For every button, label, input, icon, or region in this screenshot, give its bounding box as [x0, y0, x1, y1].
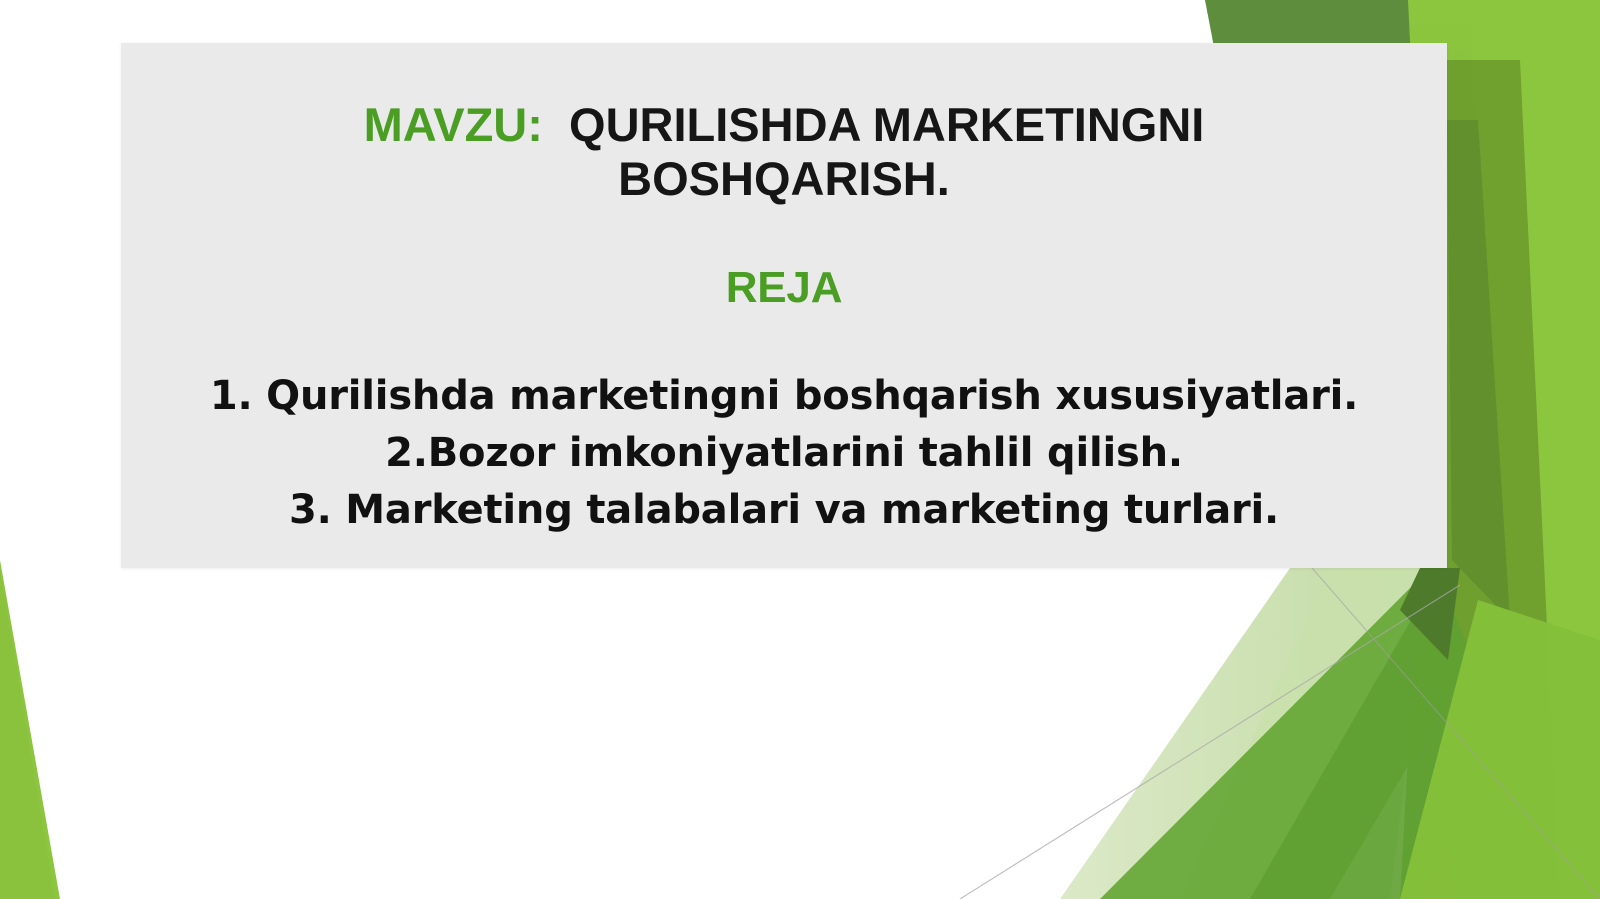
presentation-slide: MAVZU: QURILISHDA MARKETINGNI BOSHQARISH… [0, 0, 1600, 899]
plan-item-3: 3. Marketing talabalari va marketing tur… [121, 482, 1447, 539]
reja-heading: REJA [121, 263, 1447, 314]
plan-item-1: 1. Qurilishda marketingni boshqarish xus… [121, 368, 1447, 425]
title-main-text: QURILISHDA MARKETINGNI [569, 98, 1204, 151]
slide-title: MAVZU: QURILISHDA MARKETINGNI BOSHQARISH… [121, 98, 1447, 206]
plan-list: 1. Qurilishda marketingni boshqarish xus… [121, 368, 1447, 538]
shape-bottom-left-triangle [0, 560, 60, 899]
slide-content-panel: MAVZU: QURILISHDA MARKETINGNI BOSHQARISH… [121, 43, 1447, 568]
mavzu-label: MAVZU: [364, 98, 543, 151]
title-line-two: BOSHQARISH. [121, 152, 1447, 206]
plan-item-2: 2.Bozor imkoniyatlarini tahlil qilish. [121, 425, 1447, 482]
title-line-one: MAVZU: QURILISHDA MARKETINGNI [121, 98, 1447, 152]
